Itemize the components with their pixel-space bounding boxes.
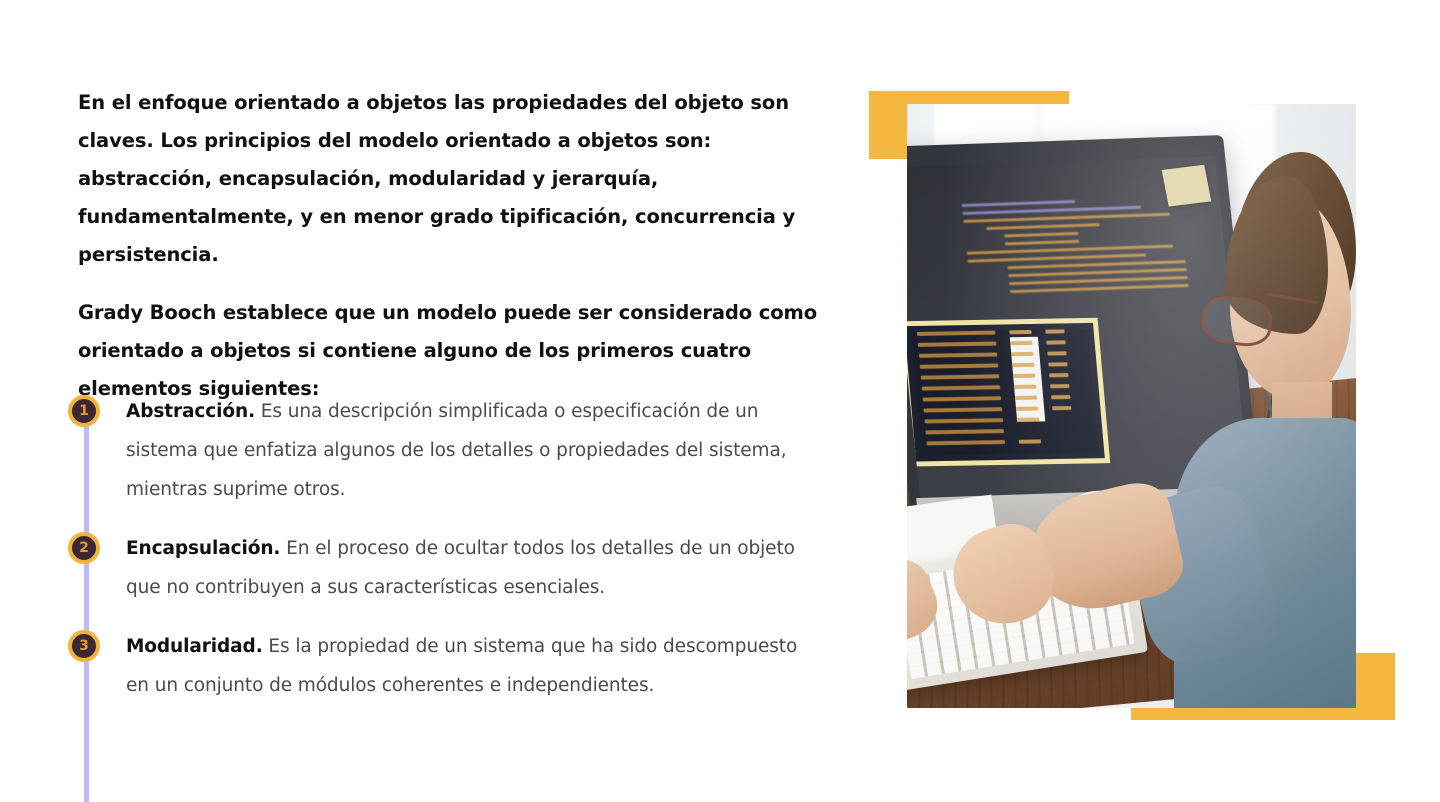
photo-person	[1132, 116, 1357, 708]
list-number-3: 3	[79, 639, 89, 653]
photo-terminal-row	[919, 362, 1083, 369]
list-item-text-3: Modularidad. Es la propiedad de un siste…	[126, 627, 824, 705]
photo-terminal-row	[917, 329, 1081, 336]
list-item-term-1: Abstracción.	[126, 401, 255, 422]
photo-terminal-window	[907, 318, 1110, 467]
paragraph-1: En el enfoque orientado a objetos las pr…	[78, 84, 818, 274]
numbered-list: 1 Abstracción. Es una descripción simpli…	[64, 392, 824, 705]
list-item: 2 Encapsulación. En el proceso de oculta…	[64, 529, 824, 607]
photo-terminal-row	[922, 395, 1086, 402]
photo-code-line	[961, 201, 1075, 208]
list-item-term-3: Modularidad.	[126, 636, 263, 657]
photo-terminal-row	[920, 373, 1084, 380]
list-item-text-2: Encapsulación. En el proceso de ocultar …	[126, 529, 824, 607]
photo-developer-at-desk	[907, 104, 1356, 708]
photo-terminal-row	[924, 417, 1088, 424]
list-number-badge-2: 2	[68, 532, 100, 564]
paragraph-2: Grady Booch establece que un modelo pued…	[78, 294, 818, 408]
image-composition	[860, 70, 1420, 750]
photo-terminal-row	[926, 439, 1090, 446]
list-item-term-2: Encapsulación.	[126, 538, 280, 559]
photo-terminal-row	[919, 351, 1083, 358]
photo-terminal-inner	[911, 329, 1098, 456]
photo-code-line	[985, 224, 1099, 231]
text-column: En el enfoque orientado a objetos las pr…	[78, 84, 818, 408]
photo-code-line	[1004, 241, 1078, 247]
photo-terminal-row	[921, 384, 1085, 391]
list-number-1: 1	[79, 404, 89, 418]
list-item: 1 Abstracción. Es una descripción simpli…	[64, 392, 824, 509]
photo-code-line	[1004, 233, 1078, 239]
photo-terminal-row	[925, 428, 1089, 435]
list-number-badge-3: 3	[68, 630, 100, 662]
list-number-2: 2	[79, 541, 89, 555]
list-item-text-1: Abstracción. Es una descripción simplifi…	[126, 392, 824, 509]
photo-terminal-row	[923, 406, 1087, 413]
photo-terminal-row	[918, 340, 1082, 347]
list-number-badge-1: 1	[68, 395, 100, 427]
list-item: 3 Modularidad. Es la propiedad de un sis…	[64, 627, 824, 705]
photo-scene	[907, 104, 1356, 708]
